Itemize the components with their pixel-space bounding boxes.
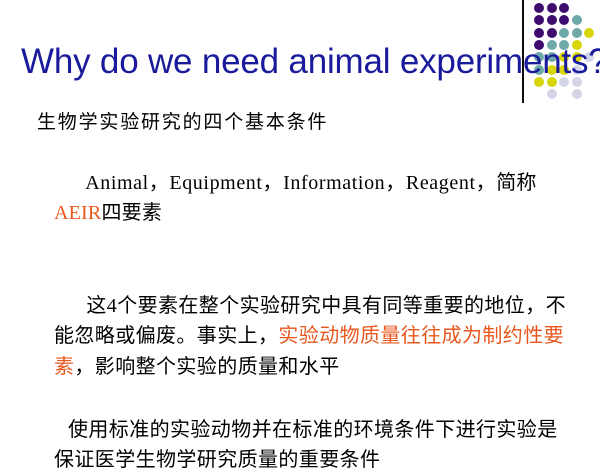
elements-paragraph: 这4个要素在整个实验研究中具有同等重要的地位，不能忽略或偏废。事实上，实验动物质… [30, 260, 575, 413]
aeir-acronym: AEIR [54, 202, 101, 224]
slide-canvas: Why do we need animal experiments? 生物学实验… [0, 0, 600, 448]
deco-dot-purple [559, 3, 569, 13]
aeir-tail-before: 简称 [496, 172, 536, 194]
deco-dot-purple [547, 15, 557, 25]
deco-dot-purple [534, 28, 544, 38]
slide-body: 生物学实验研究的四个基本条件 Animal，Equipment，Informat… [30, 108, 575, 476]
deco-dot-teal [572, 15, 582, 25]
deco-dot-purple [559, 15, 569, 25]
aeir-paragraph: Animal，Equipment，Information，Reagent，简称A… [30, 138, 575, 258]
standard-paragraph: 使用标准的实验动物并在标准的环境条件下进行实验是保证医学生物学研究质量的重要条件 [30, 415, 575, 476]
body-heading: 生物学实验研究的四个基本条件 [30, 108, 575, 138]
deco-dot-lavender [547, 89, 557, 99]
deco-dot-teal [572, 28, 582, 38]
deco-dot-purple [534, 3, 544, 13]
deco-dot-teal [559, 28, 569, 38]
deco-dot-purple [547, 3, 557, 13]
deco-dot-purple [547, 28, 557, 38]
deco-dot-lavender [572, 89, 582, 99]
aeir-tail-after: 四要素 [101, 202, 162, 224]
deco-dot-yellow [584, 28, 594, 38]
page-title: Why do we need animal experiments? [21, 40, 526, 86]
aeir-latin-terms: Animal，Equipment，Information，Reagent， [85, 172, 496, 194]
elements-part2: ，影响整个实验的质量和水平 [74, 356, 339, 378]
deco-dot-purple [534, 15, 544, 25]
